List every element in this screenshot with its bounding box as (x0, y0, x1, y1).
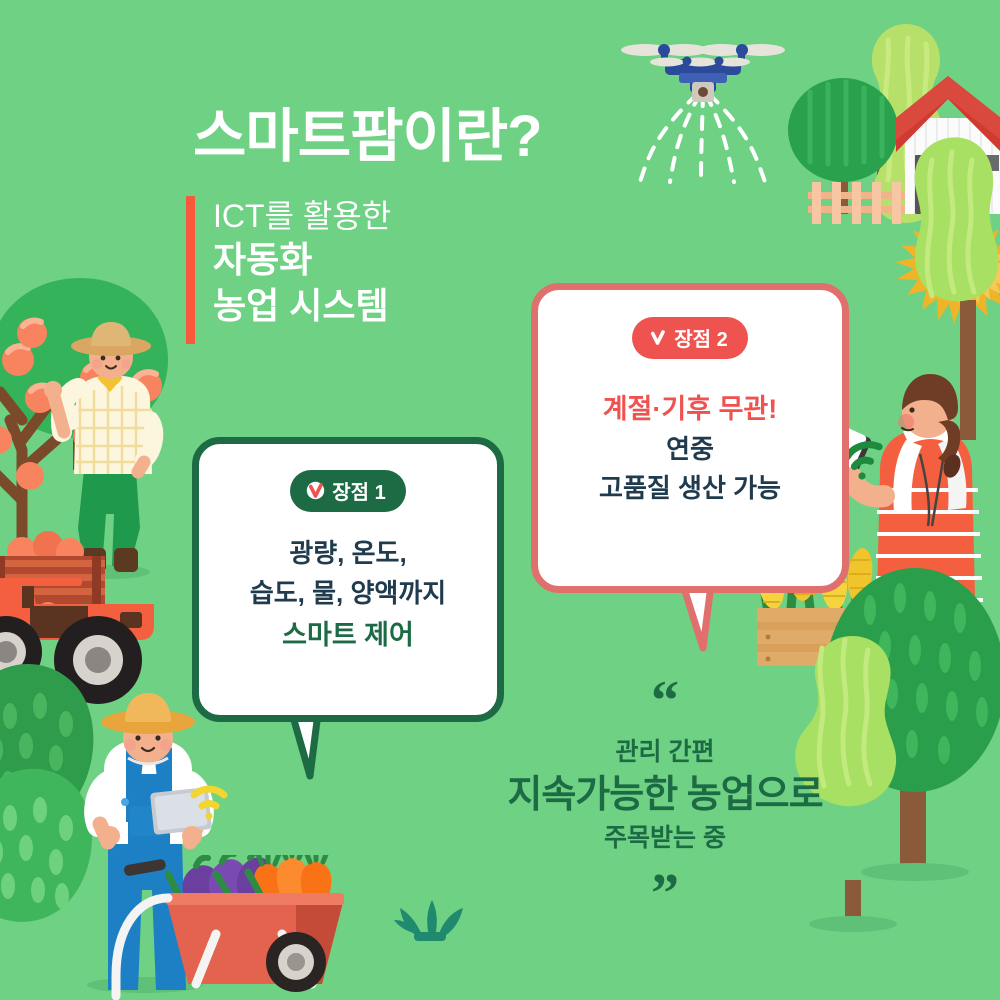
benefit-2-line-3: 고품질 생산 가능 (599, 471, 781, 505)
infographic-canvas: 스마트팜이란? ICT를 활용한 자동화 농업 시스템 장점 1 광량, 온도,… (0, 0, 1000, 1000)
benefit-1-body: 광량, 온도, 습도, 물, 양액까지 스마트 제어 (250, 536, 446, 653)
benefit-1-line-3: 스마트 제어 (282, 617, 414, 653)
benefit-2-badge-label: 장점 2 (674, 323, 727, 352)
subtitle-block: ICT를 활용한 자동화 농업 시스템 (186, 196, 391, 344)
benefit-2-badge: 장점 2 (632, 317, 747, 359)
benefit-1-line-2: 습도, 물, 양액까지 (250, 576, 446, 610)
quote-line-main: 지속가능한 농업으로 (470, 770, 860, 821)
benefit-2-line-1: 계절·기후 무관! (603, 391, 778, 427)
page-title-wrap: 스마트팜이란? (193, 108, 613, 166)
subtitle-line-2: 자동화 (213, 238, 391, 282)
page-title: 스마트팜이란? (193, 108, 613, 166)
subtitle-line-1: ICT를 활용한 (213, 196, 391, 236)
benefit-card-1: 장점 1 광량, 온도, 습도, 물, 양액까지 스마트 제어 (192, 437, 504, 722)
subtitle-text: ICT를 활용한 자동화 농업 시스템 (213, 196, 391, 328)
benefit-2-line-2: 연중 (666, 432, 714, 466)
benefit-card-2: 장점 2 계절·기후 무관! 연중 고품질 생산 가능 (531, 283, 849, 593)
subtitle-line-3: 농업 시스템 (213, 284, 391, 328)
closing-quote: “ 관리 간편 지속가능한 농업으로 주목받는 중 ” (470, 685, 860, 911)
quote-open-mark: “ (470, 685, 860, 719)
quote-line-bottom: 주목받는 중 (470, 821, 860, 856)
accent-bar (186, 196, 195, 344)
benefit-2-body: 계절·기후 무관! 연중 고품질 생산 가능 (599, 391, 781, 506)
quote-close-mark: ” (470, 878, 860, 912)
check-icon (648, 328, 667, 347)
quote-line-top: 관리 간편 (470, 735, 860, 770)
benefit-1-badge: 장점 1 (290, 470, 405, 512)
benefit-1-badge-label: 장점 1 (332, 476, 385, 505)
benefit-1-line-1: 광량, 온도, (289, 536, 406, 570)
check-icon (306, 481, 325, 500)
